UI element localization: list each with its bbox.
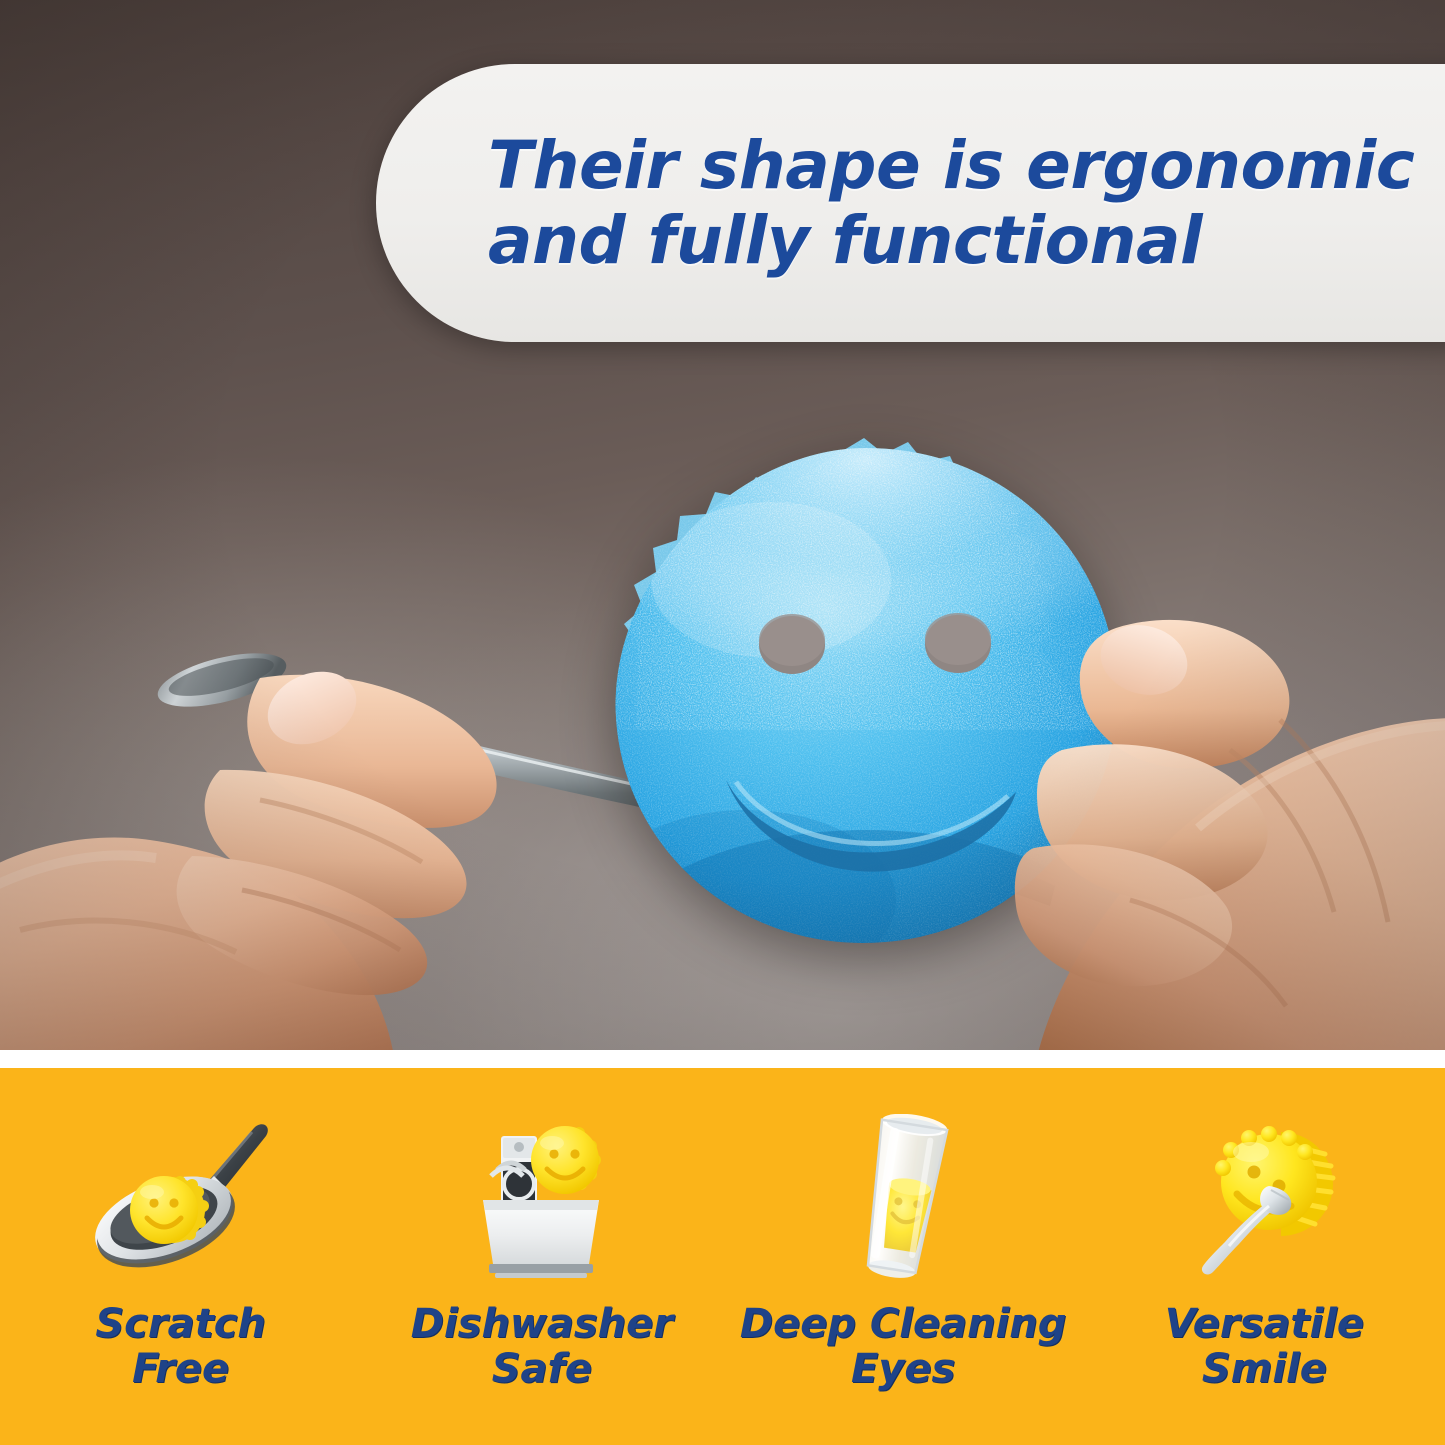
feature-dishwasher-safe: Dishwasher Safe	[361, 1068, 722, 1445]
feature-deep-cleaning-eyes: Deep Cleaning Eyes	[723, 1068, 1084, 1445]
left-hand	[0, 600, 600, 1050]
headline-line-2: and fully functional	[488, 203, 1406, 278]
dishwasher-basket-with-sponge-icon	[447, 1114, 637, 1282]
divider-strip	[0, 1050, 1445, 1068]
feature-band: Scratch Free	[0, 1068, 1445, 1445]
headline-line-1: Their shape is ergonomic	[488, 128, 1406, 203]
feature-label-deep-cleaning-eyes: Deep Cleaning Eyes	[740, 1302, 1067, 1392]
feature-versatile-smile: Versatile Smile	[1084, 1068, 1445, 1445]
feature-label-scratch-free: Scratch Free	[95, 1302, 266, 1392]
right-hand	[930, 600, 1445, 1050]
drinking-glass-with-sponge-icon	[808, 1114, 998, 1282]
feature-label-dishwasher-safe: Dishwasher Safe	[411, 1302, 673, 1392]
sponge-with-fork-icon	[1169, 1114, 1359, 1282]
feature-scratch-free: Scratch Free	[0, 1068, 361, 1445]
frying-pan-with-sponge-icon	[86, 1114, 276, 1282]
product-marketing-image: Their shape is ergonomic and fully funct…	[0, 0, 1445, 1445]
feature-label-versatile-smile: Versatile Smile	[1165, 1302, 1364, 1392]
headline-banner: Their shape is ergonomic and fully funct…	[376, 64, 1445, 342]
